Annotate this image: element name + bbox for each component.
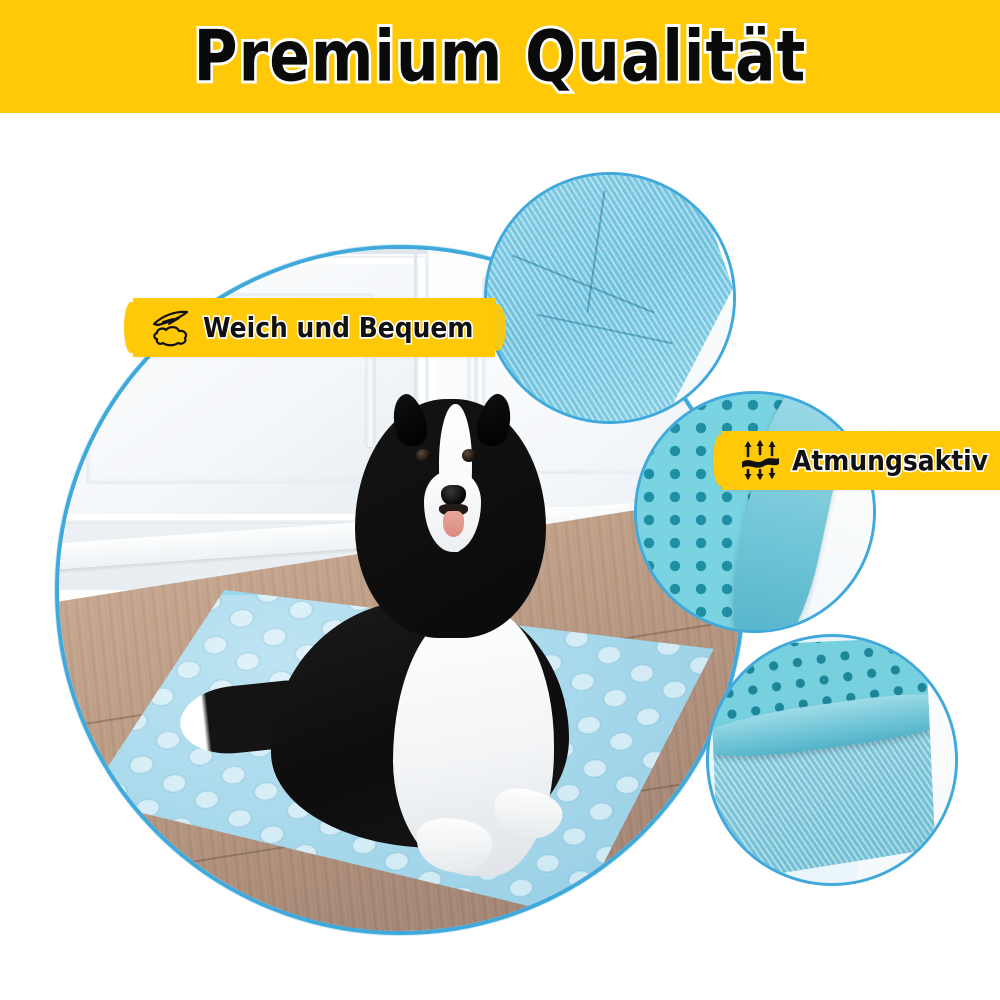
- dog-head: [355, 399, 546, 638]
- page-title: Premium Qualität: [194, 15, 807, 98]
- dog-ear: [387, 391, 433, 450]
- airflow-fabric-icon: [738, 440, 782, 480]
- border-collie-dog: [264, 399, 646, 876]
- dog-eye: [416, 449, 430, 462]
- badge-breathable[interactable]: Atmungsaktiv: [722, 431, 1000, 490]
- badge-soft-label: Weich und Bequem: [203, 311, 473, 343]
- product-image-stage: Weich und Bequem Atmungs: [0, 113, 1000, 1000]
- badge-soft-and-comfortable[interactable]: Weich und Bequem: [133, 298, 495, 357]
- feather-cloud-icon: [149, 307, 193, 347]
- detail-circle-quilted: [484, 172, 736, 424]
- badge-breathable-label: Atmungsaktiv: [792, 444, 988, 476]
- detail-circle-mesh: [634, 391, 876, 633]
- dog-eye: [462, 449, 476, 462]
- detail-circle-folded: [706, 634, 958, 886]
- header-banner: Premium Qualität: [0, 0, 1000, 113]
